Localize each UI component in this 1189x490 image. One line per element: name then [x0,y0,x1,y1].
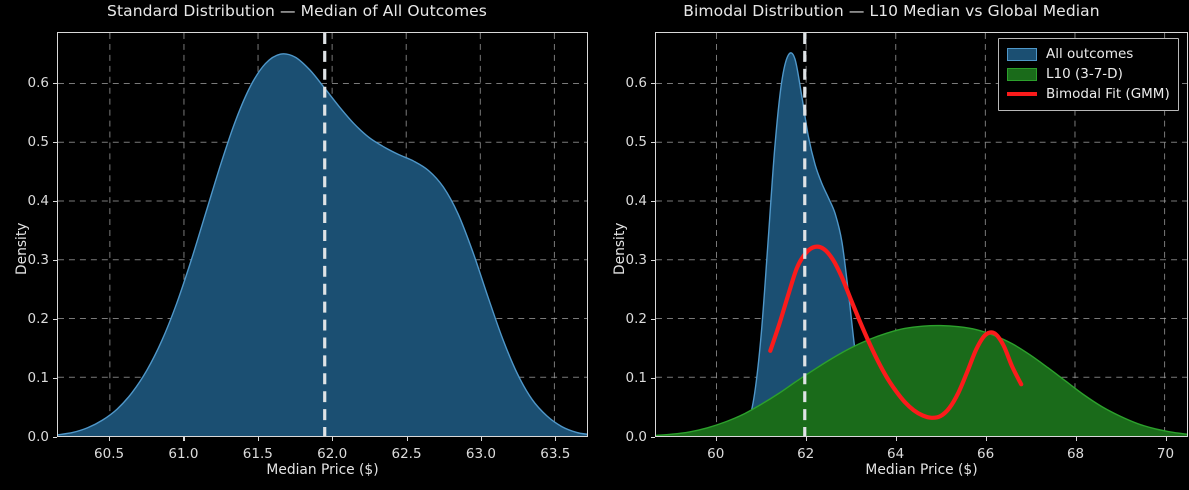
y-tick-mark [53,83,57,84]
legend: All outcomesL10 (3-7-D)Bimodal Fit (GMM) [998,38,1179,111]
y-tick-label: 0.2 [9,311,49,327]
series-area-l10-3-7-d [656,326,1187,436]
y-tick-label: 0.1 [9,370,49,386]
y-tick-mark [53,201,57,202]
series-area-all-outcomes [58,54,587,436]
x-tick-mark [481,437,482,441]
x-tick-label: 60.5 [94,446,124,462]
x-tick-mark [258,437,259,441]
y-tick-label: 0.1 [607,370,647,386]
x-tick-mark [986,437,987,441]
x-tick-label: 63.5 [540,446,570,462]
y-tick-mark [651,260,655,261]
axes-left [57,32,588,437]
y-tick-mark [53,142,57,143]
y-tick-mark [53,378,57,379]
x-tick-label: 64 [887,446,904,462]
x-tick-label: 68 [1067,446,1084,462]
y-tick-mark [651,319,655,320]
y-tick-mark [651,378,655,379]
panel-left-title: Standard Distribution — Median of All Ou… [0,2,594,20]
legend-label: All outcomes [1046,46,1133,62]
x-tick-mark [183,437,184,441]
x-tick-mark [109,437,110,441]
x-axis-label-left: Median Price ($) [57,462,588,478]
x-tick-mark [332,437,333,441]
panel-bimodal-distribution: Bimodal Distribution — L10 Median vs Glo… [594,0,1189,490]
x-tick-label: 62.5 [392,446,422,462]
y-axis-label-left: Density [14,223,30,275]
plot-area-left [58,33,587,436]
x-tick-mark [1076,437,1077,441]
y-axis-label-right: Density [612,223,628,275]
figure-canvas: Standard Distribution — Median of All Ou… [0,0,1189,490]
y-tick-label: 0.0 [9,429,49,445]
y-tick-mark [651,142,655,143]
legend-line-icon [1007,92,1037,95]
y-tick-label: 0.6 [9,75,49,91]
legend-label: L10 (3-7-D) [1046,66,1123,82]
legend-item-0[interactable]: All outcomes [1007,44,1170,64]
x-tick-label: 62 [797,446,814,462]
x-tick-label: 63.0 [466,446,496,462]
x-tick-label: 66 [977,446,994,462]
x-tick-mark [806,437,807,441]
y-tick-label: 0.2 [607,311,647,327]
y-tick-mark [651,83,655,84]
y-tick-label: 0.5 [9,134,49,150]
x-tick-label: 61.0 [168,446,198,462]
y-tick-label: 0.4 [607,193,647,209]
y-tick-label: 0.6 [607,75,647,91]
legend-label: Bimodal Fit (GMM) [1046,86,1170,102]
x-axis-label-right: Median Price ($) [655,462,1188,478]
y-tick-mark [651,201,655,202]
y-tick-mark [53,437,57,438]
x-tick-mark [555,437,556,441]
y-tick-label: 0.5 [607,134,647,150]
y-tick-mark [651,437,655,438]
legend-item-2[interactable]: Bimodal Fit (GMM) [1007,84,1170,104]
x-tick-mark [896,437,897,441]
x-tick-label: 70 [1157,446,1174,462]
panel-standard-distribution: Standard Distribution — Median of All Ou… [0,0,594,490]
x-tick-label: 61.5 [243,446,273,462]
x-tick-label: 62.0 [317,446,347,462]
y-tick-mark [53,260,57,261]
x-tick-mark [1166,437,1167,441]
x-tick-mark [407,437,408,441]
panel-right-title: Bimodal Distribution — L10 Median vs Glo… [594,2,1189,20]
y-tick-label: 0.4 [9,193,49,209]
y-tick-mark [53,319,57,320]
legend-swatch-icon [1007,48,1037,61]
legend-item-1[interactable]: L10 (3-7-D) [1007,64,1170,84]
x-tick-label: 60 [707,446,724,462]
legend-swatch-icon [1007,68,1037,81]
y-tick-label: 0.0 [607,429,647,445]
x-tick-mark [716,437,717,441]
